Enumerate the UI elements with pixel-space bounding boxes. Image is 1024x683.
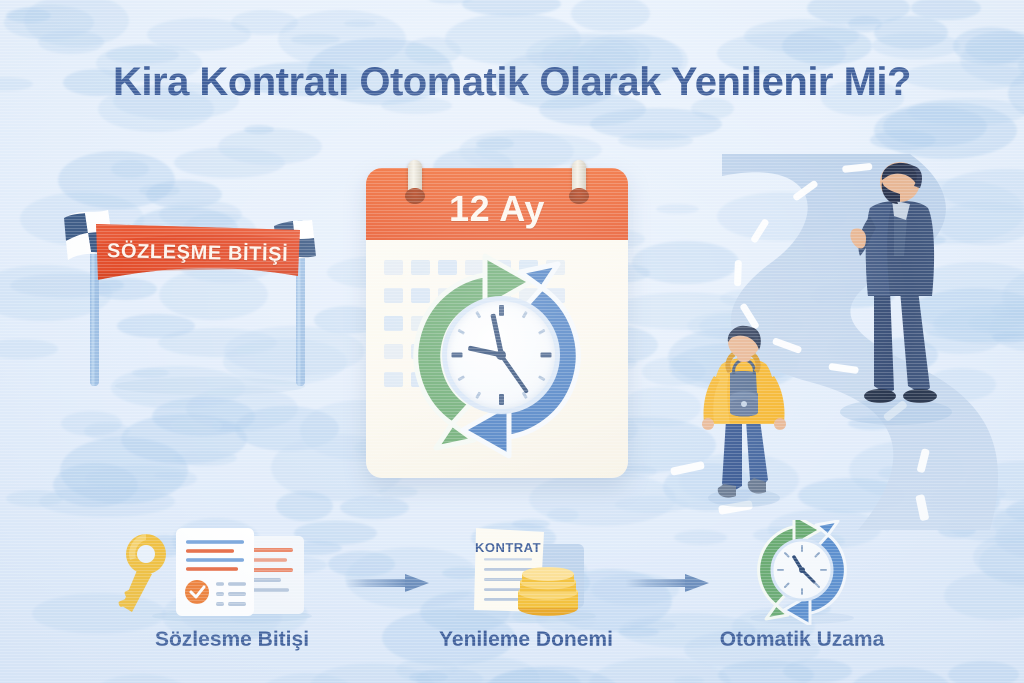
clock-center-hub bbox=[496, 350, 506, 360]
clock-renewal-arrows-icon bbox=[672, 520, 932, 625]
renewal-cycle-icon bbox=[390, 252, 604, 460]
shoe-left bbox=[864, 389, 896, 403]
cloud-blob bbox=[85, 465, 197, 492]
cloud-blob bbox=[872, 32, 960, 59]
clock-tick bbox=[521, 311, 527, 319]
contract-end-banner: SÖZLEŞME BİTİŞİ bbox=[60, 200, 340, 400]
contract-title: KONTRAT bbox=[475, 540, 541, 555]
cloud-blob bbox=[170, 417, 222, 434]
clock-tick bbox=[457, 375, 465, 381]
banner-shadow bbox=[115, 377, 305, 395]
calendar-body: 12 Ay bbox=[366, 168, 628, 478]
clock-tick bbox=[475, 311, 481, 319]
clock-tick bbox=[451, 353, 462, 358]
step-automatic-renewal[interactable]: Otomatik Uzama bbox=[672, 520, 932, 680]
cloud-blob bbox=[276, 491, 333, 521]
cloud-blob bbox=[476, 137, 514, 150]
approval-check-badge bbox=[185, 580, 209, 604]
clock-tick bbox=[499, 394, 504, 405]
cloud-blob bbox=[84, 422, 130, 440]
step-label: Yenileme Donemi bbox=[396, 628, 656, 652]
page-title: Kira Kontratı Otomatik Olarak Yenilenir … bbox=[0, 60, 1024, 105]
clock-tick bbox=[537, 375, 545, 381]
illustration-canvas: Kira Kontratı Otomatik Olarak Yenilenir … bbox=[0, 0, 1024, 683]
cloud-blob bbox=[340, 496, 409, 519]
clock-second-hand bbox=[499, 354, 529, 394]
cloud-blob bbox=[459, 130, 574, 172]
step-label: Sözlesme Bitişi bbox=[102, 628, 362, 652]
cloud-blob bbox=[6, 8, 51, 23]
cloud-blob bbox=[174, 147, 285, 178]
calendar-ring-right bbox=[572, 160, 586, 200]
step-label: Otomatik Uzama bbox=[672, 628, 932, 652]
clock-tick bbox=[475, 391, 481, 399]
clock-tick bbox=[540, 353, 551, 358]
cloud-blob bbox=[0, 339, 58, 359]
clock-face bbox=[442, 296, 560, 414]
banner-text: SÖZLEŞME BİTİŞİ bbox=[107, 240, 289, 267]
calendar-widget: 12 Ay bbox=[366, 168, 628, 478]
step-renewal-period[interactable]: KONTRAT bbox=[396, 520, 656, 680]
cloud-blob bbox=[244, 125, 274, 134]
clock-tick bbox=[537, 329, 545, 335]
document-front bbox=[176, 528, 254, 616]
coin-stack-icon bbox=[518, 567, 578, 616]
key-and-documents-icon bbox=[102, 520, 362, 625]
key-icon bbox=[118, 534, 166, 612]
cloud-blob bbox=[571, 0, 650, 32]
cloud-blob bbox=[231, 10, 298, 35]
step-contract-end[interactable]: Sözlesme Bitişi bbox=[102, 520, 362, 680]
process-steps-row: Sözlesme Bitişi bbox=[0, 520, 1024, 683]
clock-tick bbox=[457, 329, 465, 335]
shoe-right bbox=[903, 389, 937, 403]
calendar-header: 12 Ay bbox=[366, 168, 628, 240]
calendar-ring-left bbox=[408, 160, 422, 200]
clock-tick bbox=[499, 305, 504, 316]
calendar-month-label: 12 Ay bbox=[449, 188, 545, 230]
contract-and-coins-icon: KONTRAT bbox=[396, 520, 656, 625]
road-scene bbox=[660, 150, 1024, 530]
